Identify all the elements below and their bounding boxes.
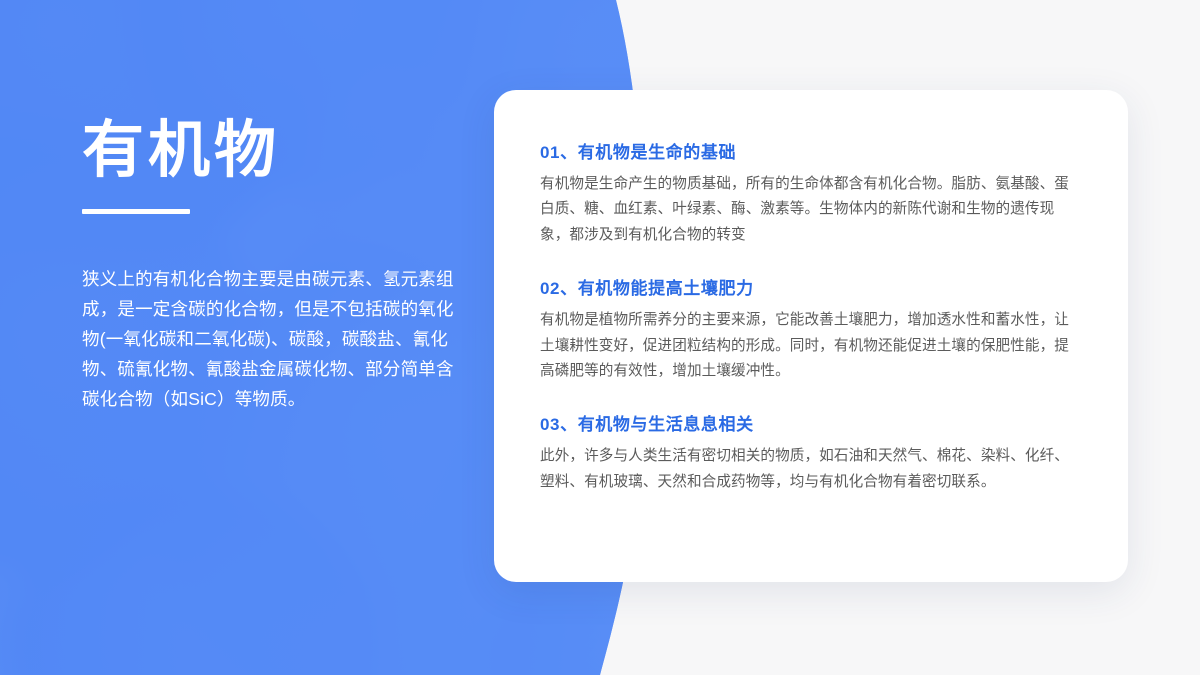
page-title: 有机物	[82, 118, 462, 183]
section-body-01: 有机物是生命产生的物质基础，所有的生命体都含有机化合物。脂肪、氨基酸、蛋白质、糖…	[540, 172, 1082, 248]
section-body-02: 有机物是植物所需养分的主要来源，它能改善土壤肥力，增加透水性和蓄水性，让土壤耕性…	[540, 308, 1082, 384]
section-title-01: 01、有机物是生命的基础	[540, 138, 1082, 163]
section-title-03: 03、有机物与生活息息相关	[540, 410, 1082, 435]
title-underline	[82, 209, 190, 214]
card-section-01: 01、有机物是生命的基础 有机物是生命产生的物质基础，所有的生命体都含有机化合物…	[540, 138, 1082, 248]
card-section-03: 03、有机物与生活息息相关 此外，许多与人类生活有密切相关的物质，如石油和天然气…	[540, 410, 1082, 495]
card-section-02: 02、有机物能提高土壤肥力 有机物是植物所需养分的主要来源，它能改善土壤肥力，增…	[540, 274, 1082, 384]
section-body-03: 此外，许多与人类生活有密切相关的物质，如石油和天然气、棉花、染料、化纤、塑料、有…	[540, 444, 1082, 495]
slide-root: 有机物 狭义上的有机化合物主要是由碳元素、氢元素组成，是一定含碳的化合物，但是不…	[0, 0, 1200, 675]
content-card: 01、有机物是生命的基础 有机物是生命产生的物质基础，所有的生命体都含有机化合物…	[494, 90, 1128, 582]
lead-paragraph: 狭义上的有机化合物主要是由碳元素、氢元素组成，是一定含碳的化合物，但是不包括碳的…	[82, 264, 462, 414]
left-column: 有机物 狭义上的有机化合物主要是由碳元素、氢元素组成，是一定含碳的化合物，但是不…	[82, 118, 462, 432]
section-title-02: 02、有机物能提高土壤肥力	[540, 274, 1082, 299]
